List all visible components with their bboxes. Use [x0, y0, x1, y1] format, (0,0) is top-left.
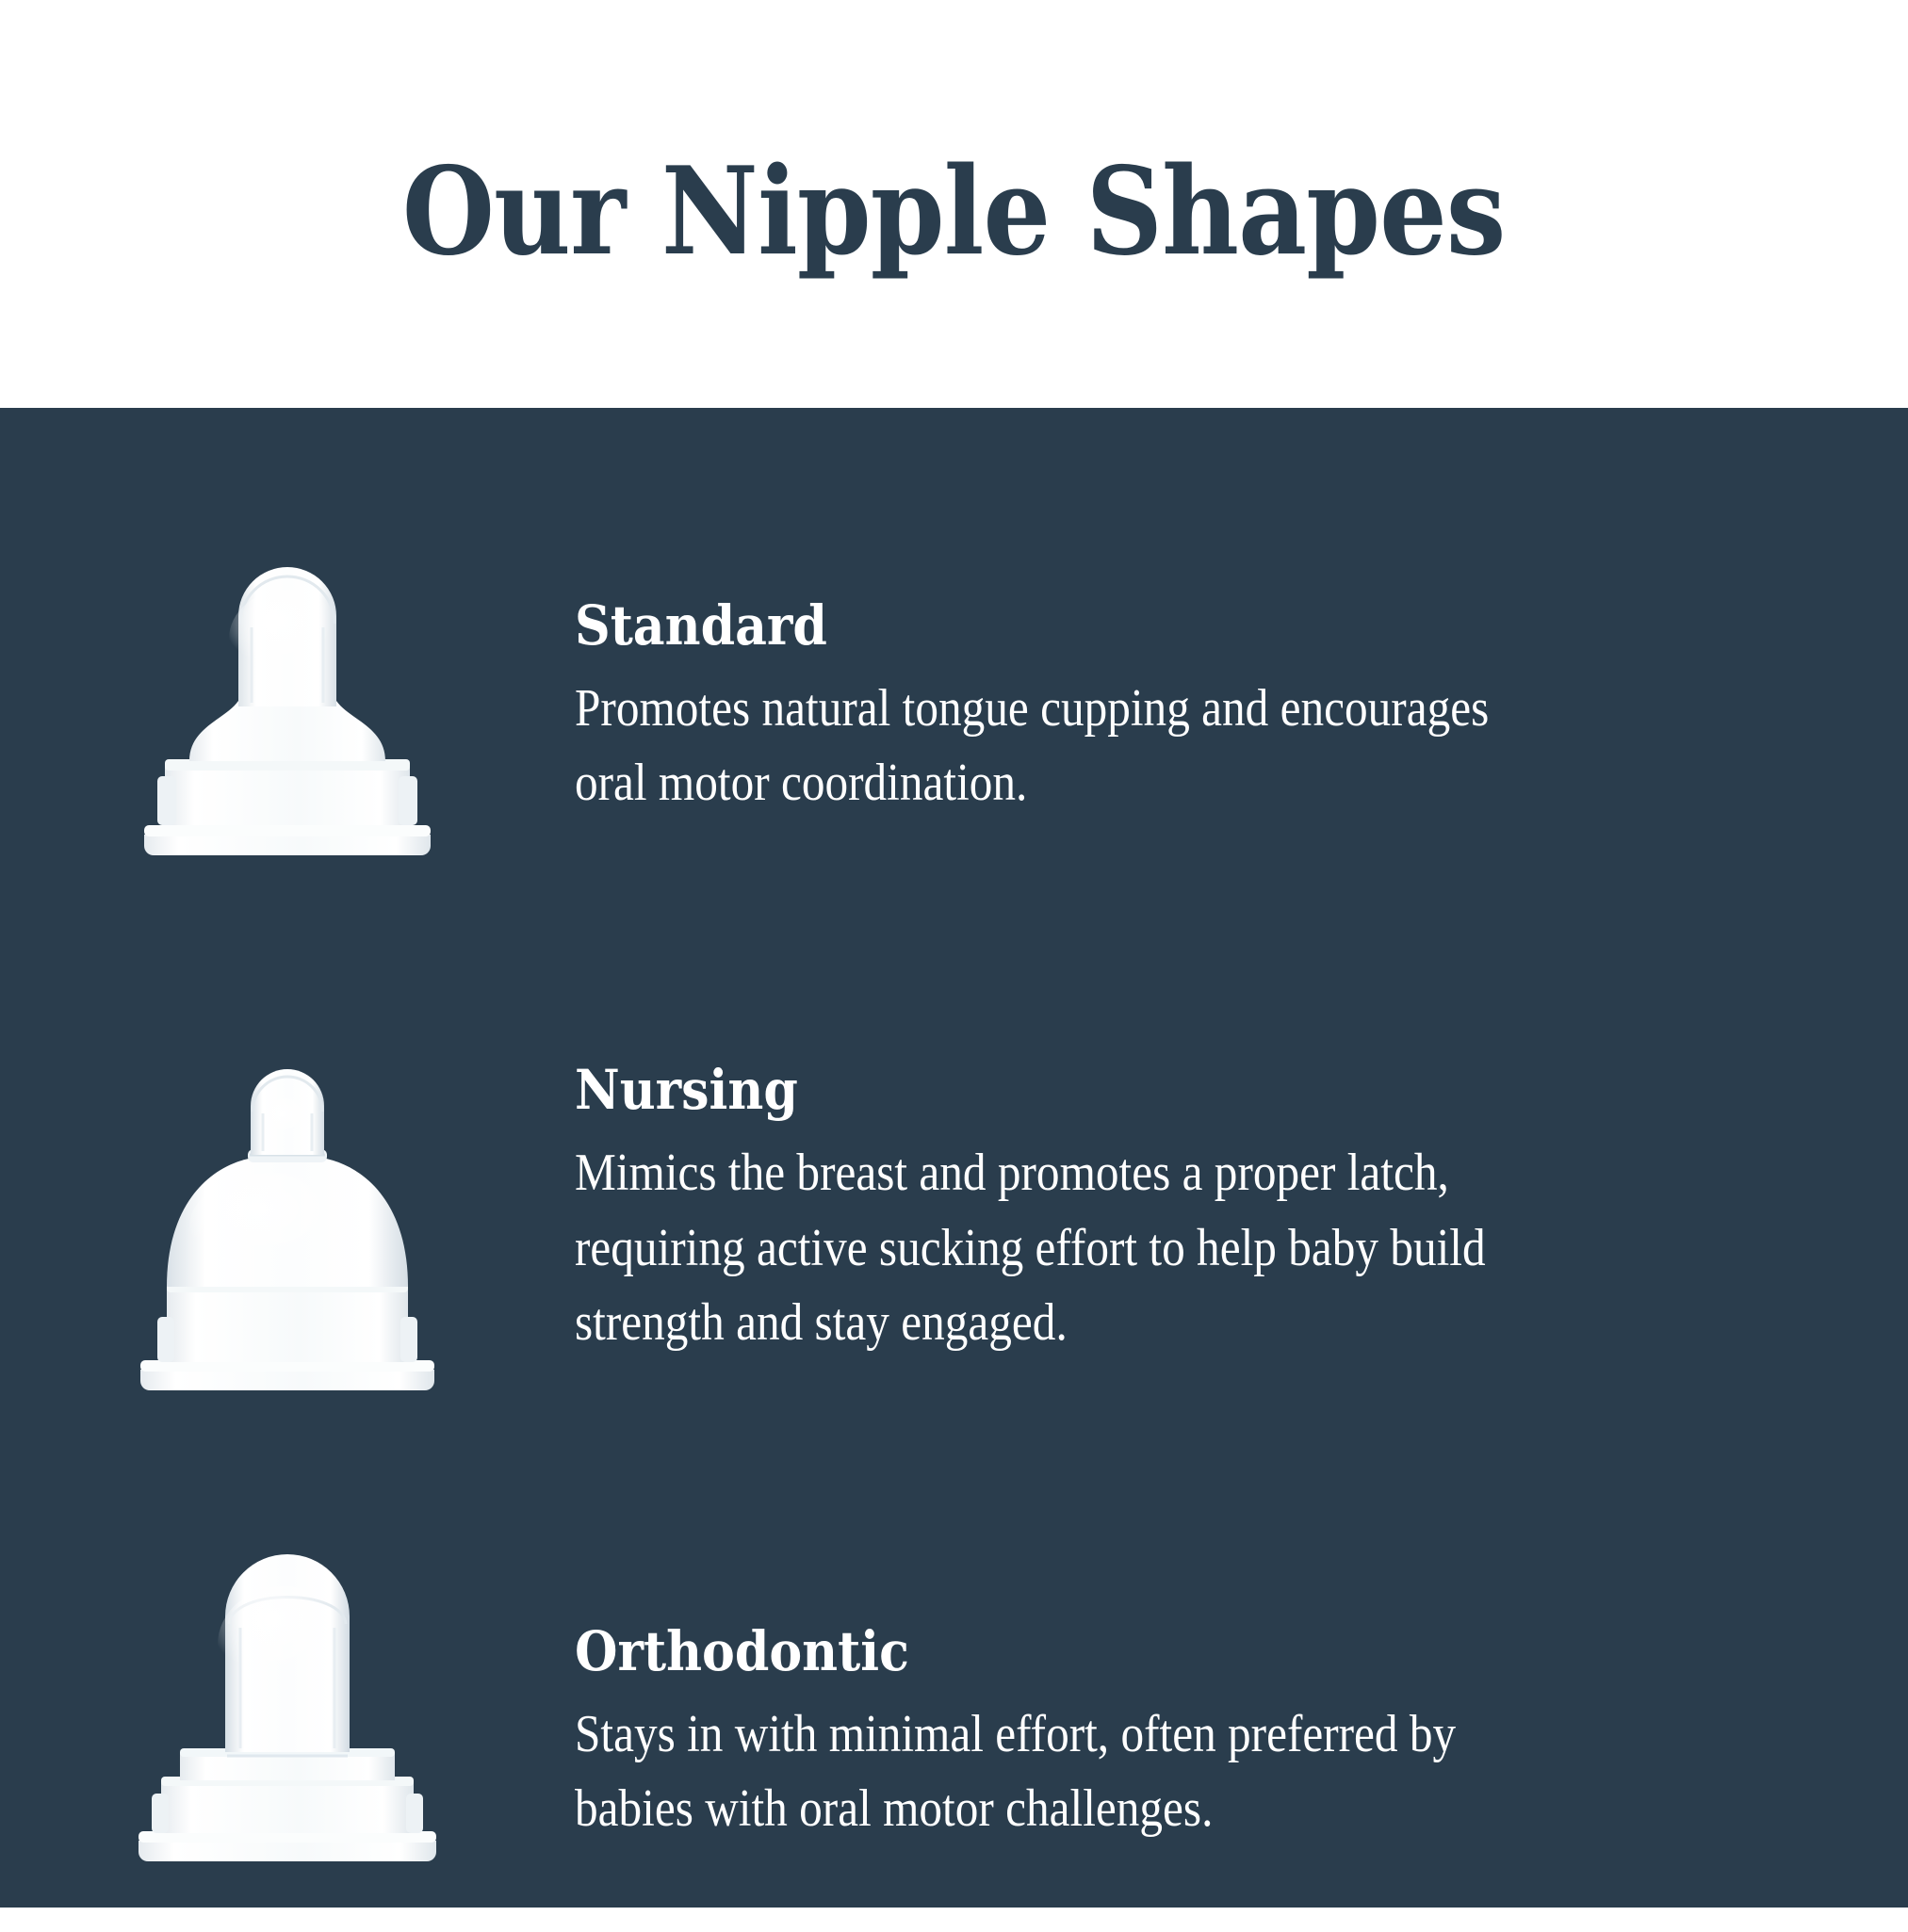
item-title-nursing: Nursing	[575, 1062, 1541, 1119]
nipple-shape-list: Standard Promotes natural tongue cupping…	[0, 408, 1908, 1908]
infographic-page: Our Nipple Shapes	[0, 0, 1908, 1908]
item-title-orthodontic: Orthodontic	[575, 1623, 1541, 1680]
item-description-nursing: Mimics the breast and promotes a proper …	[575, 1136, 1520, 1361]
header-band: Our Nipple Shapes	[0, 0, 1908, 408]
item-title-standard: Standard	[575, 597, 1541, 655]
item-description-orthodontic: Stays in with minimal effort, often pref…	[575, 1697, 1520, 1847]
list-item-orthodontic: Orthodontic Stays in with minimal effort…	[0, 1461, 1908, 1932]
orthodontic-nipple-image	[0, 1501, 575, 1877]
list-item-standard: Standard Promotes natural tongue cupping…	[0, 463, 1908, 952]
orthodontic-copy: Orthodontic Stays in with minimal effort…	[575, 1546, 1687, 1847]
standard-nipple-image	[0, 502, 575, 879]
list-item-nursing: Nursing Mimics the breast and promotes a…	[0, 952, 1908, 1461]
nursing-copy: Nursing Mimics the breast and promotes a…	[575, 1052, 1687, 1360]
item-description-standard: Promotes natural tongue cupping and enco…	[575, 672, 1520, 821]
page-title: Our Nipple Shapes	[402, 137, 1506, 272]
nursing-nipple-image	[0, 1032, 575, 1409]
standard-copy: Standard Promotes natural tongue cupping…	[575, 593, 1687, 821]
